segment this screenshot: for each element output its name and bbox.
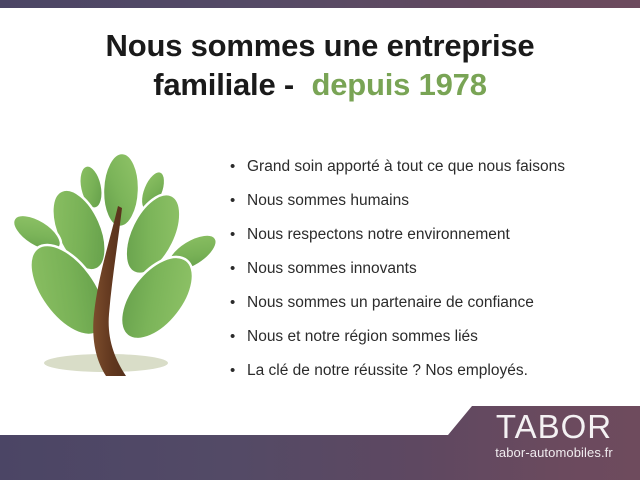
bullet-icon: •: [230, 218, 235, 252]
value-list: •Grand soin apporté à tout ce que nous f…: [228, 150, 628, 388]
slide-canvas: Nous sommes une entreprise familiale - d…: [0, 0, 640, 480]
page-title: Nous sommes une entreprise familiale - d…: [0, 26, 640, 104]
list-item: •Grand soin apporté à tout ce que nous f…: [228, 150, 628, 184]
brand-logo-wordmark: TABOR: [474, 410, 634, 444]
tree-illustration: [14, 148, 216, 392]
page-title-line-1: Nous sommes une entreprise: [106, 28, 535, 63]
list-item-label: Nous sommes un partenaire de confiance: [247, 294, 534, 311]
list-item-label: La clé de notre réussite ? Nos employés.: [247, 362, 528, 379]
bullet-icon: •: [230, 184, 235, 218]
list-item: •La clé de notre réussite ? Nos employés…: [228, 354, 628, 388]
list-item-label: Nous sommes innovants: [247, 260, 417, 277]
bullet-icon: •: [230, 150, 235, 184]
page-title-line-2: familiale - depuis 1978: [0, 65, 640, 104]
list-item: •Nous et notre région sommes liés: [228, 320, 628, 354]
brand-logo[interactable]: TABOR tabor-automobiles.fr: [474, 410, 634, 460]
list-item-label: Nous sommes humains: [247, 192, 409, 209]
bullet-icon: •: [230, 320, 235, 354]
bullet-icon: •: [230, 252, 235, 286]
list-item: •Nous sommes humains: [228, 184, 628, 218]
list-item-label: Nous et notre région sommes liés: [247, 328, 478, 345]
page-title-line-2-plain: familiale -: [153, 67, 302, 102]
bullet-icon: •: [230, 286, 235, 320]
leaf-icon: [102, 152, 141, 227]
bullet-icon: •: [230, 354, 235, 388]
top-accent-bar: [0, 0, 640, 8]
list-item: •Nous respectons notre environnement: [228, 218, 628, 252]
page-title-accent: depuis 1978: [311, 67, 486, 102]
list-item: •Nous sommes innovants: [228, 252, 628, 286]
footer-band: TABOR tabor-automobiles.fr: [0, 398, 640, 480]
list-item-label: Nous respectons notre environnement: [247, 226, 510, 243]
brand-website-url: tabor-automobiles.fr: [474, 445, 634, 460]
list-item: •Nous sommes un partenaire de confiance: [228, 286, 628, 320]
list-item-label: Grand soin apporté à tout ce que nous fa…: [247, 158, 565, 175]
